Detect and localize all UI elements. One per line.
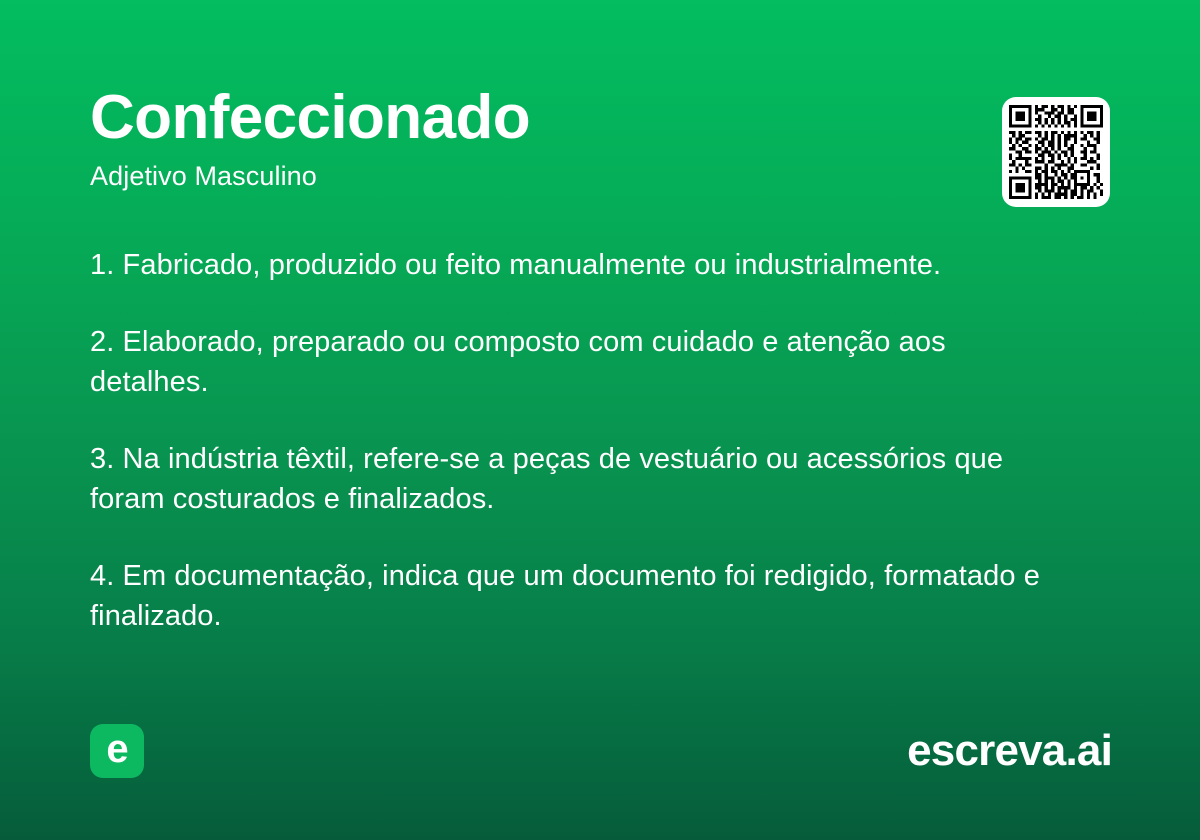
card-header: Confeccionado Adjetivo Masculino [90,86,970,193]
brand-wordmark: escreva.ai [907,729,1112,773]
definition-item: 1. Fabricado, produzido ou feito manualm… [90,246,1070,285]
qr-code-icon [1009,104,1103,200]
definition-item: 3. Na indústria têxtil, refere-se a peça… [90,440,1070,519]
page-title: Confeccionado [90,86,970,150]
logo-letter: e [106,729,127,769]
card-footer: e escreva.ai [90,724,1112,778]
dictionary-card: Confeccionado Adjetivo Masculino [0,0,1200,840]
definition-item: 2. Elaborado, preparado ou composto com … [90,323,1070,402]
part-of-speech-label: Adjetivo Masculino [90,160,970,192]
definition-item: 4. Em documentação, indica que um docume… [90,557,1070,636]
qr-code[interactable] [1002,97,1110,207]
escreva-logo-icon: e [90,724,144,778]
definition-list: 1. Fabricado, produzido ou feito manualm… [90,246,1070,636]
